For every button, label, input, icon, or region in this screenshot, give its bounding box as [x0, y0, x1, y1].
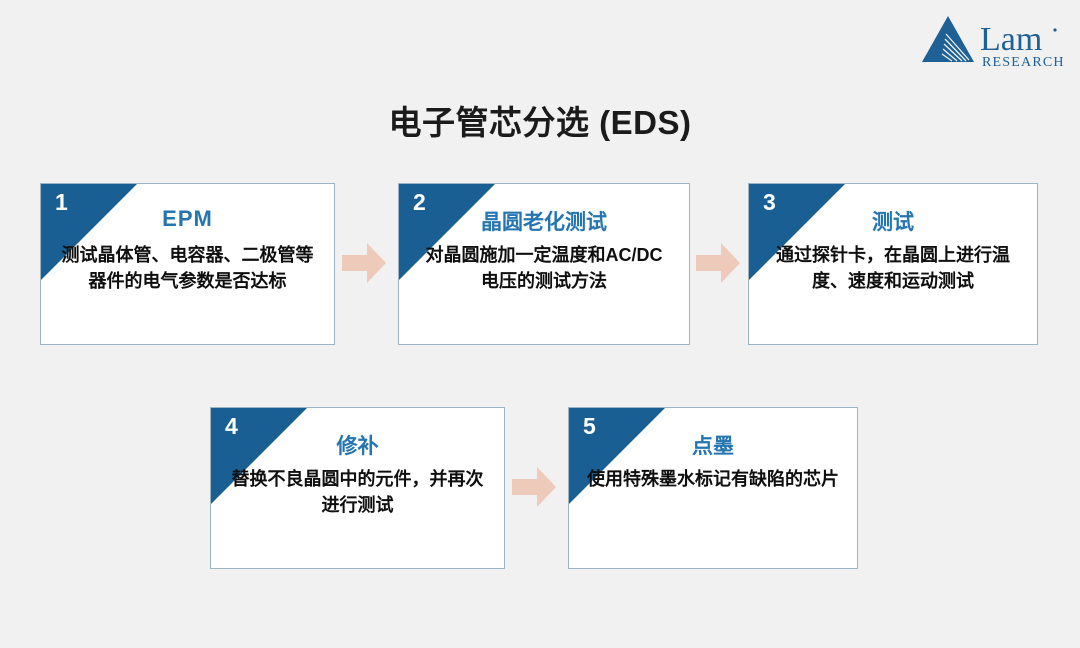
card-body-text: 测试晶体管、电容器、二极管等器件的电气参数是否达标 [59, 242, 316, 294]
process-card-1[interactable]: 1 EPM 测试晶体管、电容器、二极管等器件的电气参数是否达标 [40, 183, 335, 345]
svg-text:Lam: Lam [980, 21, 1042, 58]
card-title: 修补 [211, 430, 504, 460]
card-body-text: 替换不良晶圆中的元件，并再次进行测试 [229, 466, 486, 518]
card-body-text: 使用特殊墨水标记有缺陷的芯片 [587, 466, 839, 492]
card-body-text: 通过探针卡，在晶圆上进行温度、速度和运动测试 [767, 242, 1019, 294]
card-title: 点墨 [569, 430, 857, 460]
lam-research-logo: Lam RESEARCH [916, 10, 1066, 72]
process-card-5[interactable]: 5 点墨 使用特殊墨水标记有缺陷的芯片 [568, 407, 858, 569]
svg-text:RESEARCH: RESEARCH [982, 55, 1065, 70]
page-title: 电子管芯分选 (EDS) [0, 96, 1080, 144]
flow-arrow-right-icon [694, 240, 742, 286]
card-title: EPM [41, 206, 334, 232]
card-title: 测试 [749, 206, 1037, 236]
card-title: 晶圆老化测试 [399, 206, 689, 236]
flow-arrow-right-icon [340, 240, 388, 286]
flow-arrow-right-icon [510, 464, 558, 510]
process-card-4[interactable]: 4 修补 替换不良晶圆中的元件，并再次进行测试 [210, 407, 505, 569]
process-card-3[interactable]: 3 测试 通过探针卡，在晶圆上进行温度、速度和运动测试 [748, 183, 1038, 345]
process-card-2[interactable]: 2 晶圆老化测试 对晶圆施加一定温度和AC/DC电压的测试方法 [398, 183, 690, 345]
card-body-text: 对晶圆施加一定温度和AC/DC电压的测试方法 [417, 242, 671, 294]
